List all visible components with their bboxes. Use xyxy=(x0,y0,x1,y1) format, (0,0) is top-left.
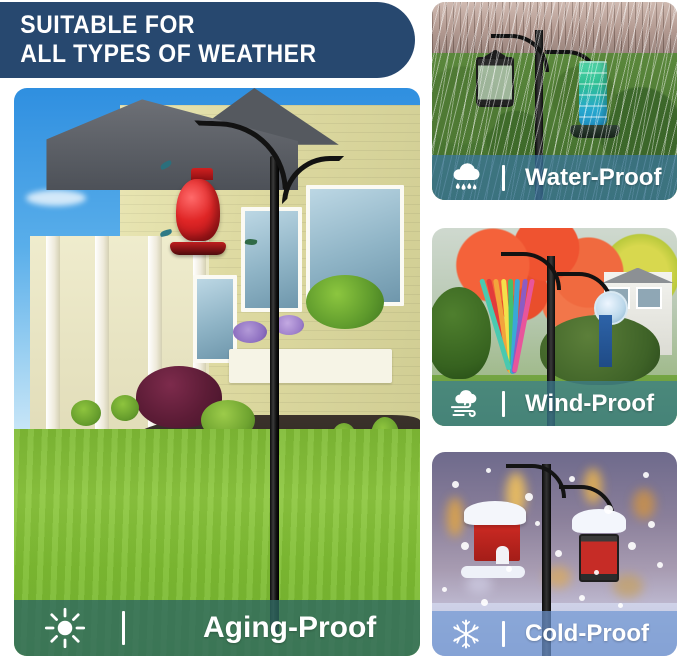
snowflake-particle xyxy=(506,566,512,572)
snowflake-particle xyxy=(648,521,655,528)
badge-label-wind-proof: Wind-Proof xyxy=(525,390,654,418)
flower-cluster xyxy=(233,321,267,343)
badge-label-cold-proof: Cold-Proof xyxy=(525,620,649,648)
badge-divider xyxy=(502,165,505,191)
house-window xyxy=(636,287,662,309)
badge-wind-proof: Wind-Proof xyxy=(432,381,677,426)
snowflake-particle xyxy=(525,493,533,501)
rain-cloud-icon xyxy=(448,161,484,195)
infographic-page: SUITABLE FOR ALL TYPES OF WEATHER xyxy=(0,0,679,658)
red-bird-feeder xyxy=(579,534,619,582)
birdhouse-snow-base xyxy=(461,566,525,578)
shrub xyxy=(111,395,139,421)
snowflake-particle xyxy=(452,481,459,488)
badge-divider xyxy=(502,391,505,417)
badge-label-water-proof: Water-Proof xyxy=(525,164,661,192)
badge-divider xyxy=(502,621,505,647)
header-line-1: SUITABLE FOR xyxy=(20,11,316,40)
birdhouse-entrance xyxy=(496,546,509,564)
snowflake-particle xyxy=(481,599,488,606)
badge-aging-proof: Aging-Proof xyxy=(14,600,420,656)
panel-aging-proof[interactable]: Aging-Proof xyxy=(14,88,420,656)
panel-wind-proof[interactable]: Wind-Proof xyxy=(432,228,677,426)
shepherd-hook-pole xyxy=(270,156,279,633)
large-shrub xyxy=(432,287,491,379)
feeder-neck xyxy=(191,168,213,180)
bokeh-light xyxy=(633,489,655,519)
hummingbird-feeder-base xyxy=(170,242,226,255)
header-text: SUITABLE FOR ALL TYPES OF WEATHER xyxy=(0,11,317,69)
snowflake-particle xyxy=(604,505,613,514)
bokeh-light xyxy=(447,497,463,537)
snowflake-particle xyxy=(579,595,585,601)
snowflake-icon xyxy=(448,617,484,651)
badge-divider xyxy=(122,611,125,645)
header-banner: SUITABLE FOR ALL TYPES OF WEATHER xyxy=(0,2,415,78)
snowflake-particle xyxy=(442,587,447,592)
birdhouse-snow-roof xyxy=(464,501,526,525)
scene-sunny-yard xyxy=(14,88,420,656)
window-box xyxy=(229,349,391,383)
hummingbird-feeder-glass xyxy=(176,179,220,241)
snowflake-particle xyxy=(555,550,562,557)
panel-water-proof[interactable]: Water-Proof xyxy=(432,2,677,200)
wind-cloud-icon xyxy=(448,387,484,421)
hanging-banner xyxy=(599,315,612,367)
header-line-2: ALL TYPES OF WEATHER xyxy=(20,40,316,69)
badge-label-aging-proof: Aging-Proof xyxy=(203,611,376,645)
badge-water-proof: Water-Proof xyxy=(432,155,677,200)
badge-cold-proof: Cold-Proof xyxy=(432,611,677,656)
sun-icon xyxy=(42,605,88,651)
snowflake-particle xyxy=(628,542,636,550)
panel-cold-proof[interactable]: Cold-Proof xyxy=(432,452,677,656)
feeder-snow-cap xyxy=(572,509,626,533)
